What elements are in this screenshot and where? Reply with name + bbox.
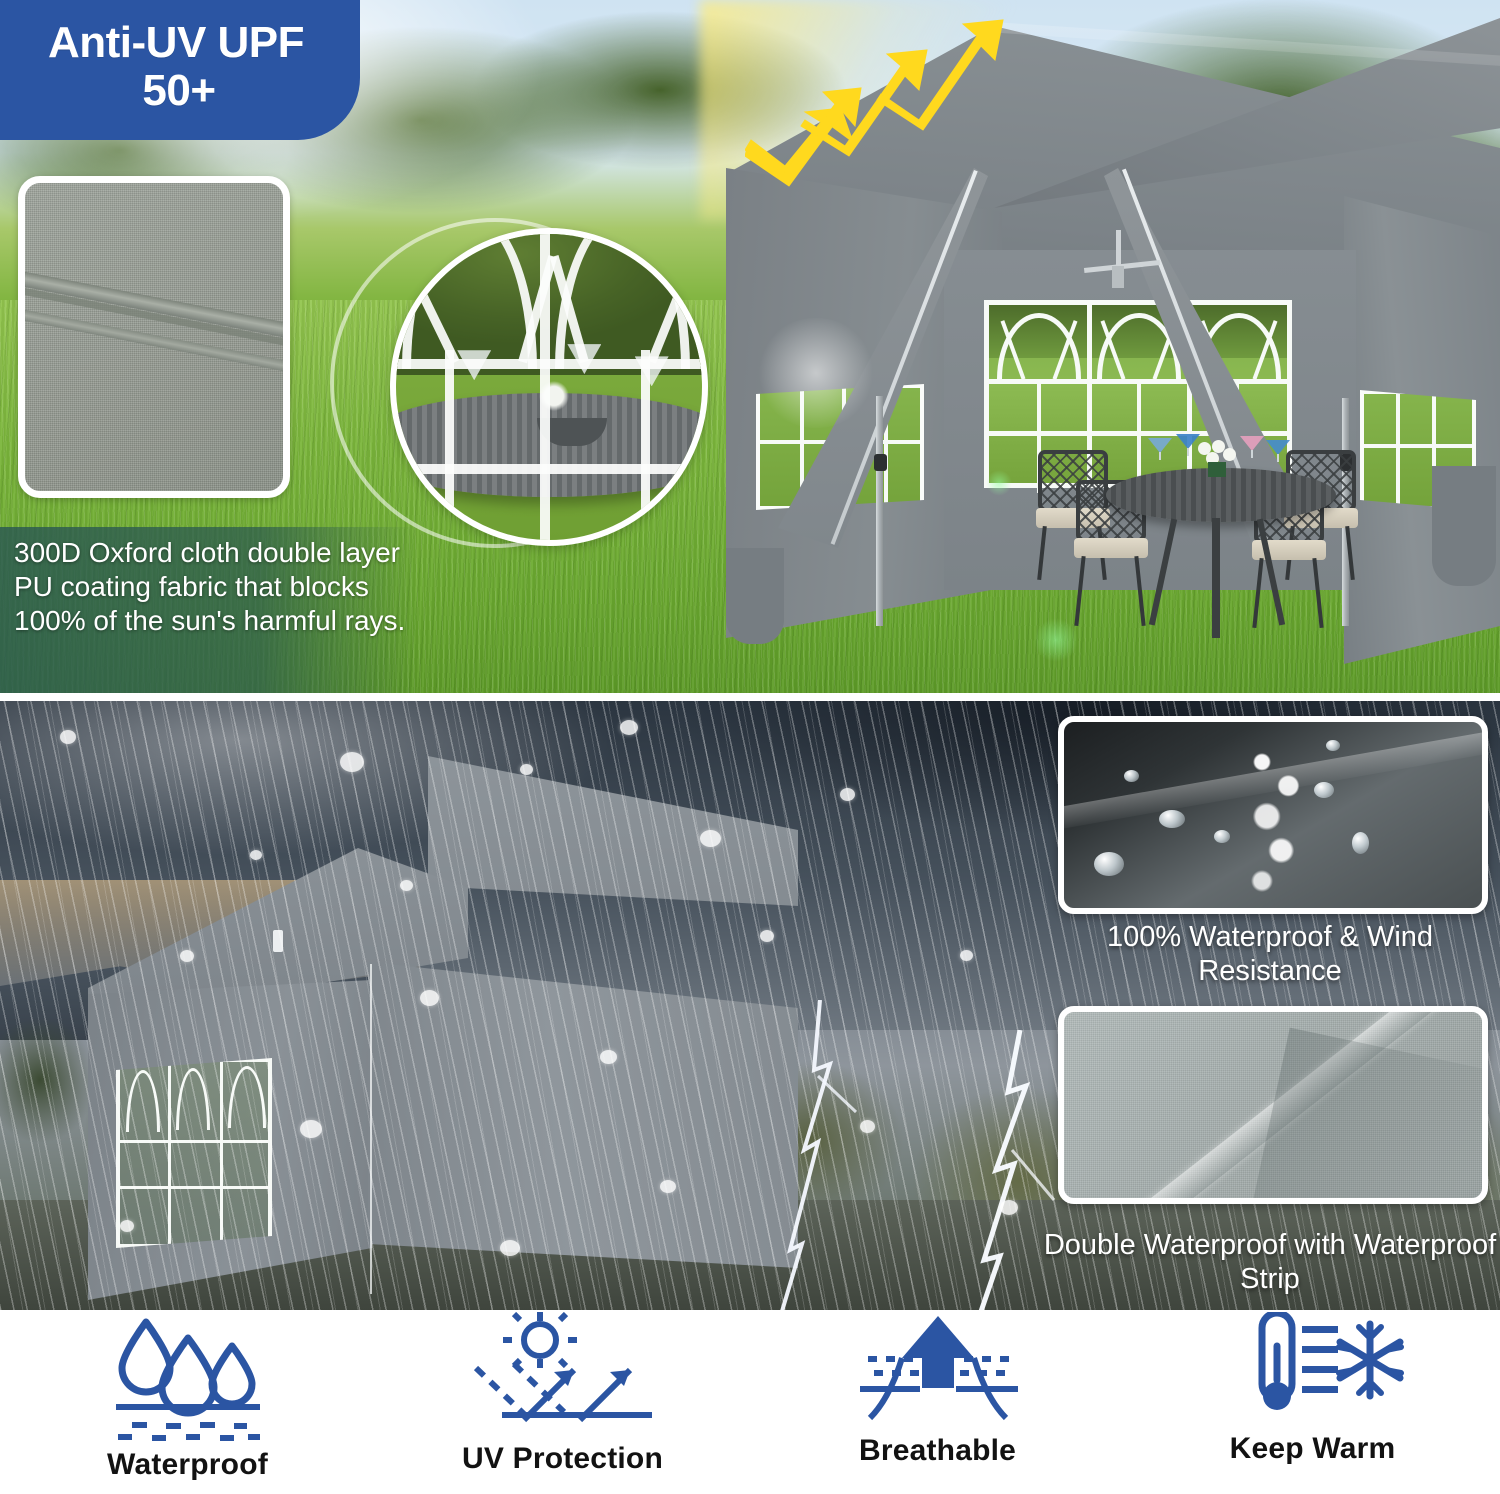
leg-pole-left bbox=[876, 396, 883, 626]
thermometer-snowflake-icon bbox=[1218, 1314, 1408, 1422]
fabric-description-caption: 300D Oxford cloth double layer PU coatin… bbox=[14, 536, 414, 638]
flower-centerpiece bbox=[1194, 440, 1240, 476]
water-drops-icon-dashes bbox=[108, 1422, 268, 1446]
patio-furniture-set bbox=[1044, 414, 1404, 664]
fabric-swatch-inset bbox=[18, 176, 290, 498]
feature-uv-protection: UV Protection bbox=[375, 1310, 750, 1476]
window-mullion bbox=[641, 350, 650, 540]
uv-reflect-arrows-icon bbox=[745, 0, 1075, 230]
feature-icon-bar: Waterproof bbox=[0, 1310, 1500, 1494]
sun-uv-reflect-icon bbox=[468, 1314, 658, 1422]
fabric-shadow bbox=[1240, 1028, 1488, 1204]
bottom-panel-rain-scene bbox=[0, 700, 1500, 1310]
cocktail-glass bbox=[1266, 440, 1290, 462]
water-splash bbox=[1214, 728, 1334, 898]
feature-label: Keep Warm bbox=[1230, 1432, 1396, 1466]
top-panel-uv-scene: Anti-UV UPF 50+ 300D Oxford cloth double… bbox=[0, 0, 1500, 693]
valance-left bbox=[726, 548, 784, 644]
water-drops-icon bbox=[108, 1314, 268, 1422]
badge-line-1: Anti-UV UPF bbox=[48, 19, 304, 67]
badge-line-2: 50+ bbox=[142, 67, 215, 115]
lens-flare-green bbox=[986, 470, 1012, 496]
waterproof-wind-caption: 100% Waterproof & Wind Resistance bbox=[1040, 920, 1500, 988]
status-badge-upf: Anti-UV UPF 50+ bbox=[0, 0, 360, 140]
product-feature-image: Anti-UV UPF 50+ 300D Oxford cloth double… bbox=[0, 0, 1500, 1494]
feature-label: Waterproof bbox=[107, 1448, 268, 1482]
cocktail-glass bbox=[1240, 436, 1264, 458]
pole-lock-left bbox=[874, 454, 887, 471]
window-detail-magnifier bbox=[390, 228, 708, 546]
lens-flare bbox=[756, 318, 876, 428]
peak-hub-hardware bbox=[1078, 230, 1164, 288]
inset-waterproof-strip bbox=[1058, 1006, 1488, 1204]
panel-divider bbox=[0, 693, 1500, 701]
feature-breathable: Breathable bbox=[750, 1310, 1125, 1468]
valance-right bbox=[1432, 466, 1496, 586]
cocktail-glass bbox=[1148, 438, 1172, 460]
inset-water-beading bbox=[1058, 716, 1488, 914]
feature-label: UV Protection bbox=[462, 1442, 663, 1476]
chair-seat-cushion bbox=[1074, 538, 1148, 558]
window-mullion bbox=[445, 350, 454, 540]
breathable-airflow-icon bbox=[848, 1314, 1028, 1422]
feature-keep-warm: Keep Warm bbox=[1125, 1310, 1500, 1466]
feature-waterproof: Waterproof bbox=[0, 1310, 375, 1482]
feature-label: Breathable bbox=[859, 1434, 1016, 1468]
waterproof-strip-caption: Double Waterproof with Waterproof Strip bbox=[1040, 1228, 1500, 1296]
